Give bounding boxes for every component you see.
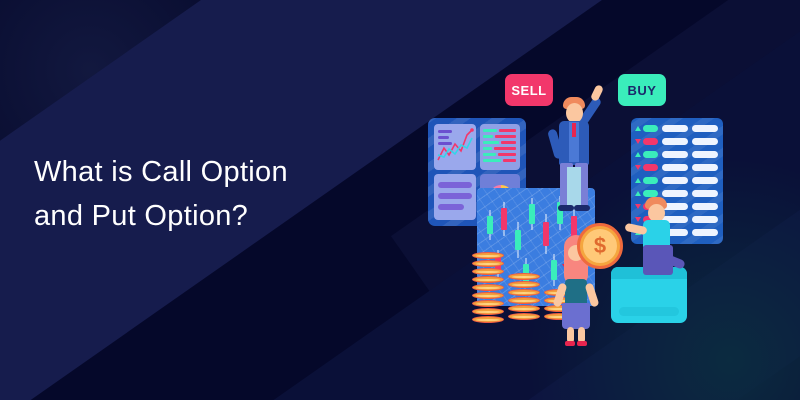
- arrow-up-icon: [635, 178, 641, 183]
- arrow-up-icon: [635, 152, 641, 157]
- list-item: [635, 176, 719, 185]
- coin-stack: [472, 252, 504, 324]
- businessman-pointing-up: [549, 83, 611, 213]
- list-item: [635, 124, 719, 133]
- dollar-coin: $: [577, 223, 623, 269]
- list-card: [434, 174, 476, 220]
- page-title: What is Call Option and Put Option?: [34, 150, 394, 238]
- trading-illustration: SELL BUY: [415, 55, 745, 355]
- arrow-up-icon: [635, 126, 641, 131]
- arrow-down-icon: [635, 165, 641, 170]
- promo-banner: What is Call Option and Put Option?: [0, 0, 800, 400]
- man-with-coin: [629, 195, 689, 280]
- arrow-down-icon: [635, 139, 641, 144]
- buy-badge[interactable]: BUY: [618, 74, 666, 106]
- list-item: [635, 137, 719, 146]
- list-item: [635, 163, 719, 172]
- coin-stack: [508, 273, 540, 325]
- sell-badge[interactable]: SELL: [505, 74, 553, 106]
- wallet-strap: [619, 307, 679, 316]
- dollar-symbol: $: [583, 229, 617, 263]
- bar-chart-card: [480, 124, 520, 170]
- list-item: [635, 150, 719, 159]
- headline-line-2: and Put Option?: [34, 194, 394, 238]
- line-chart-icon: [434, 124, 476, 170]
- line-chart-card: [434, 124, 476, 170]
- headline-line-1: What is Call Option: [34, 150, 394, 194]
